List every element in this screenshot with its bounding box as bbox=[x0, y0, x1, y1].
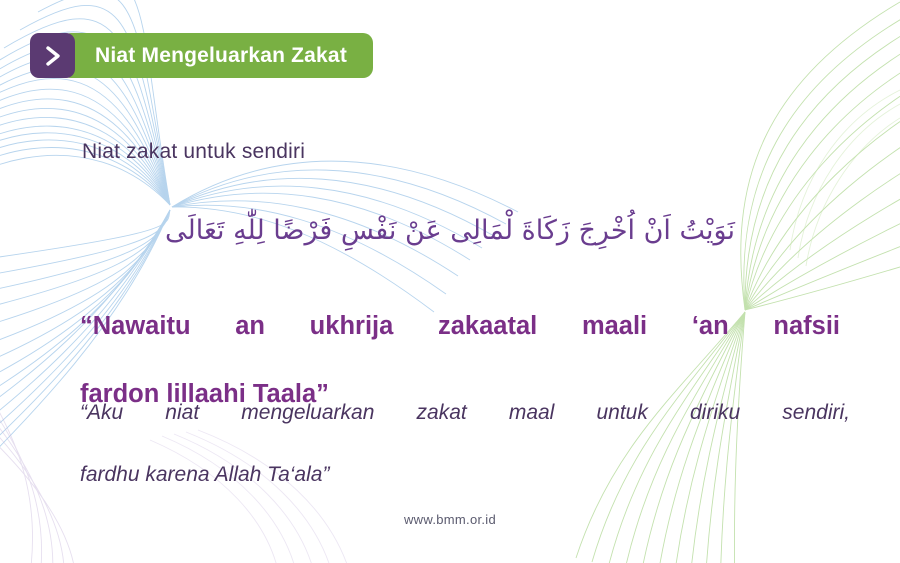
chevron-right-icon bbox=[42, 44, 64, 68]
transliteration-block: “Nawaitu an ukhrija zakaatal maali ‘an n… bbox=[80, 310, 840, 412]
header-badge: Niat Mengeluarkan Zakat bbox=[30, 33, 373, 78]
arabic-niat-text: نَوَيْتُ اَنْ اُخْرِجَ زَكَاةَ لْمَالِى … bbox=[0, 208, 900, 254]
slide-canvas: Niat Mengeluarkan Zakat Niat zakat untuk… bbox=[0, 0, 900, 563]
transliteration-line-1: “Nawaitu an ukhrija zakaatal maali ‘an n… bbox=[80, 310, 840, 378]
badge-icon-box bbox=[30, 33, 75, 78]
header-title: Niat Mengeluarkan Zakat bbox=[95, 45, 347, 66]
translation-line-2: fardhu karena Allah Ta‘ala” bbox=[80, 460, 850, 491]
slide-content: Niat zakat untuk sendiri نَوَيْتُ اَنْ ا… bbox=[0, 0, 900, 563]
translation-line-1: “Aku niat mengeluarkan zakat maal untuk … bbox=[80, 398, 850, 460]
footer-website-url: www.bmm.or.id bbox=[0, 512, 900, 527]
translation-block: “Aku niat mengeluarkan zakat maal untuk … bbox=[80, 398, 850, 491]
badge-pill: Niat Mengeluarkan Zakat bbox=[61, 33, 373, 78]
section-subtitle: Niat zakat untuk sendiri bbox=[82, 140, 305, 164]
